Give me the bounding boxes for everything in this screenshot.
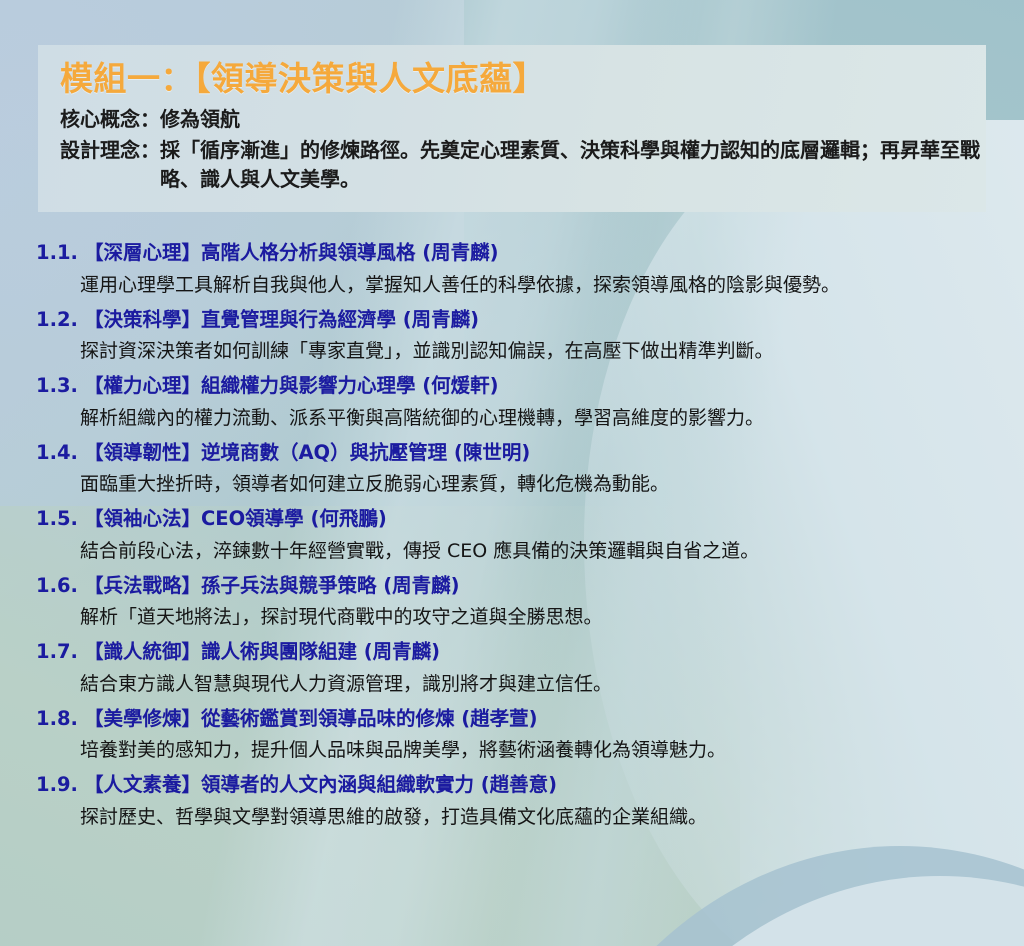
- course-title-row: 1.5.【領袖心法】CEO領導學 (何飛鵬): [0, 504, 1024, 533]
- course-number: 1.8.: [36, 709, 78, 729]
- course-description: 結合東方識人智慧與現代人力資源管理，識別將才與建立信任。: [80, 666, 1024, 704]
- course-description: 探討資深決策者如何訓練「專家直覺」，並識別認知偏誤，在高壓下做出精準判斷。: [80, 333, 1024, 371]
- course-number: 1.6.: [36, 576, 78, 596]
- course-name: 【美學修煉】從藝術鑑賞到領導品味的修煉 (趙孝萱): [84, 709, 538, 729]
- design-philosophy-block: 設計理念： 採「循序漸進」的修煉路徑。先奠定心理素質、決策科學與權力認知的底層邏…: [60, 136, 986, 194]
- course-description: 運用心理學工具解析自我與他人，掌握知人善任的科學依據，探索領導風格的陰影與優勢。: [80, 267, 1024, 305]
- course-name: 【決策科學】直覺管理與行為經濟學 (周青麟): [84, 310, 479, 330]
- course-item: 1.8.【美學修煉】從藝術鑑賞到領導品味的修煉 (趙孝萱)培養對美的感知力，提升…: [0, 704, 1024, 771]
- course-description: 培養對美的感知力，提升個人品味與品牌美學，將藝術涵養轉化為領導魅力。: [80, 732, 1024, 770]
- course-description: 結合前段心法，淬鍊數十年經營實戰，傳授 CEO 應具備的決策邏輯與自省之道。: [80, 533, 1024, 571]
- course-number: 1.7.: [36, 642, 78, 662]
- design-philosophy-text: 採「循序漸進」的修煉路徑。先奠定心理素質、決策科學與權力認知的底層邏輯；再昇華至…: [160, 136, 986, 194]
- course-name: 【人文素養】領導者的人文內涵與組織軟實力 (趙善意): [84, 775, 557, 795]
- course-number: 1.4.: [36, 443, 78, 463]
- design-philosophy-label: 設計理念：: [60, 136, 160, 194]
- course-title-row: 1.3.【權力心理】組織權力與影響力心理學 (何煖軒): [0, 371, 1024, 400]
- course-title-row: 1.8.【美學修煉】從藝術鑑賞到領導品味的修煉 (趙孝萱): [0, 704, 1024, 733]
- course-number: 1.9.: [36, 775, 78, 795]
- course-item: 1.2.【決策科學】直覺管理與行為經濟學 (周青麟)探討資深決策者如何訓練「專家…: [0, 305, 1024, 372]
- module-title: 模組一：【領導決策與人文底蘊】: [60, 60, 986, 99]
- course-number: 1.2.: [36, 310, 78, 330]
- course-item: 1.9.【人文素養】領導者的人文內涵與組織軟實力 (趙善意)探討歷史、哲學與文學…: [0, 770, 1024, 837]
- course-description: 解析「道天地將法」，探討現代商戰中的攻守之道與全勝思想。: [80, 599, 1024, 637]
- course-item: 1.1.【深層心理】高階人格分析與領導風格 (周青麟)運用心理學工具解析自我與他…: [0, 238, 1024, 305]
- course-item: 1.3.【權力心理】組織權力與影響力心理學 (何煖軒)解析組織內的權力流動、派系…: [0, 371, 1024, 438]
- course-title-row: 1.7.【識人統御】識人術與團隊組建 (周青麟): [0, 637, 1024, 666]
- course-title-row: 1.6.【兵法戰略】孫子兵法與競爭策略 (周青麟): [0, 571, 1024, 600]
- course-title-row: 1.4.【領導韌性】逆境商數（AQ）與抗壓管理 (陳世明): [0, 438, 1024, 467]
- course-number: 1.5.: [36, 509, 78, 529]
- course-number: 1.1.: [36, 243, 78, 263]
- course-title-row: 1.1.【深層心理】高階人格分析與領導風格 (周青麟): [0, 238, 1024, 267]
- course-description: 探討歷史、哲學與文學對領導思維的啟發，打造具備文化底蘊的企業組織。: [80, 799, 1024, 837]
- core-concept-line: 核心概念：修為領航: [60, 105, 986, 134]
- course-name: 【深層心理】高階人格分析與領導風格 (周青麟): [84, 243, 499, 263]
- course-description: 解析組織內的權力流動、派系平衡與高階統御的心理機轉，學習高維度的影響力。: [80, 400, 1024, 438]
- module-header-panel: 模組一：【領導決策與人文底蘊】 核心概念：修為領航 設計理念： 採「循序漸進」的…: [38, 45, 986, 212]
- course-item: 1.7.【識人統御】識人術與團隊組建 (周青麟)結合東方識人智慧與現代人力資源管…: [0, 637, 1024, 704]
- course-item: 1.5.【領袖心法】CEO領導學 (何飛鵬)結合前段心法，淬鍊數十年經營實戰，傳…: [0, 504, 1024, 571]
- course-title-row: 1.2.【決策科學】直覺管理與行為經濟學 (周青麟): [0, 305, 1024, 334]
- course-item: 1.6.【兵法戰略】孫子兵法與競爭策略 (周青麟)解析「道天地將法」，探討現代商…: [0, 571, 1024, 638]
- slide-canvas: 模組一：【領導決策與人文底蘊】 核心概念：修為領航 設計理念： 採「循序漸進」的…: [0, 0, 1024, 946]
- course-name: 【權力心理】組織權力與影響力心理學 (何煖軒): [84, 376, 499, 396]
- course-description: 面臨重大挫折時，領導者如何建立反脆弱心理素質，轉化危機為動能。: [80, 466, 1024, 504]
- course-title-row: 1.9.【人文素養】領導者的人文內涵與組織軟實力 (趙善意): [0, 770, 1024, 799]
- course-name: 【領袖心法】CEO領導學 (何飛鵬): [84, 509, 387, 529]
- course-name: 【兵法戰略】孫子兵法與競爭策略 (周青麟): [84, 576, 460, 596]
- course-number: 1.3.: [36, 376, 78, 396]
- course-name: 【識人統御】識人術與團隊組建 (周青麟): [84, 642, 440, 662]
- course-item: 1.4.【領導韌性】逆境商數（AQ）與抗壓管理 (陳世明)面臨重大挫折時，領導者…: [0, 438, 1024, 505]
- course-name: 【領導韌性】逆境商數（AQ）與抗壓管理 (陳世明): [84, 443, 530, 463]
- course-list: 1.1.【深層心理】高階人格分析與領導風格 (周青麟)運用心理學工具解析自我與他…: [0, 238, 1024, 837]
